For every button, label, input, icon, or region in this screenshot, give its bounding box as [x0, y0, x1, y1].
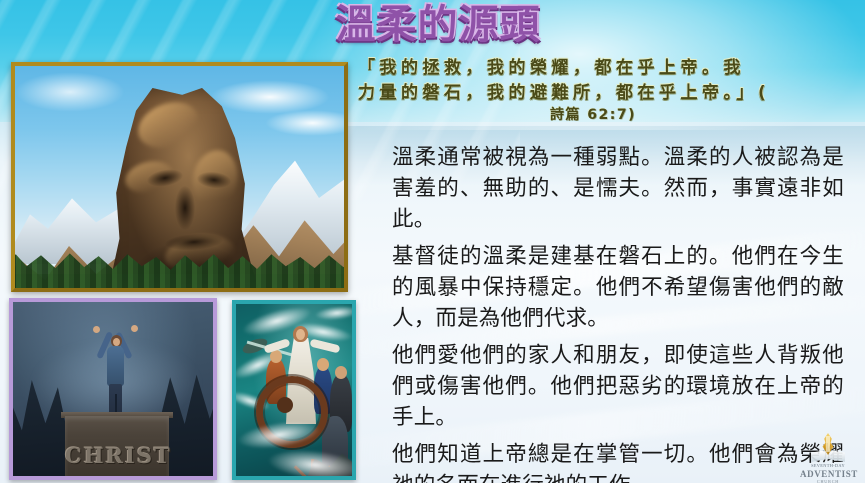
- storm-illustration: [236, 304, 352, 476]
- cloud: [210, 80, 330, 114]
- logo-mark: [800, 433, 856, 463]
- jesus-at-ships-wheel-image: [232, 300, 356, 480]
- wheel-hub: [277, 397, 293, 413]
- presentation-slide: 溫柔的源頭 「我的拯救，我的榮耀，都在乎上帝。我 力量的磐石，我的避難所，都在乎…: [0, 0, 865, 483]
- jesus-face: [296, 329, 305, 340]
- cross-icon: [826, 436, 830, 452]
- standing-on-christ-rock-image: CHRIST: [9, 298, 217, 480]
- crew-member-head: [335, 366, 347, 379]
- logo-line-3: CHURCH: [800, 479, 856, 483]
- cloud: [265, 110, 348, 136]
- person-hand-right: [131, 325, 138, 332]
- crew-member-head: [317, 358, 329, 371]
- scripture-quote-line-2: 力量的磐石，我的避難所，都在乎上帝。」(: [358, 81, 865, 106]
- person-face: [113, 338, 120, 346]
- body-paragraph: 溫柔通常被視為一種弱點。溫柔的人被認為是害羞的、無助的、是懦夫。然而，事實遠非如…: [392, 142, 844, 235]
- seventh-day-adventist-church-logo: SEVENTH-DAY ADVENTIST CHURCH: [800, 433, 856, 481]
- body-paragraph: 基督徒的溫柔是建基在磐石上的。他們在今生的風暴中保持穩定。他們不希望傷害他們的敵…: [392, 241, 844, 334]
- page-title: 溫柔的源頭: [288, 1, 588, 49]
- face-nose-shadow: [175, 186, 195, 230]
- mountain-face-rock-image: [11, 62, 348, 292]
- scripture-reference: 詩篇 62:7): [358, 104, 828, 124]
- christ-rock-label: CHRIST: [65, 443, 169, 468]
- scripture-quote-line-1: 「我的拯救，我的榮耀，都在乎上帝。我: [358, 56, 865, 81]
- christ-rock-illustration: CHRIST: [13, 302, 213, 476]
- cloud: [15, 72, 125, 112]
- mountain-face-illustration: [15, 66, 344, 288]
- body-paragraph: 他們知道上帝總是在掌管一切。他們會為榮耀祂的名而在進行祂的工作。: [392, 439, 844, 483]
- scripture-quote: 「我的拯救，我的榮耀，都在乎上帝。我 力量的磐石，我的避難所，都在乎上帝。」(: [358, 56, 865, 106]
- person-torso: [107, 346, 124, 386]
- body-paragraph: 他們愛他們的家人和朋友，即使這些人背叛他們或傷害他們。他們把惡劣的環境放在上帝的…: [392, 340, 844, 433]
- body-text-column: 溫柔通常被視為一種弱點。溫柔的人被認為是害羞的、無助的、是懦夫。然而，事實遠非如…: [392, 142, 844, 483]
- person-hand-left: [93, 326, 100, 333]
- logo-line-2: ADVENTIST: [800, 469, 856, 479]
- crew-member-head: [270, 350, 282, 363]
